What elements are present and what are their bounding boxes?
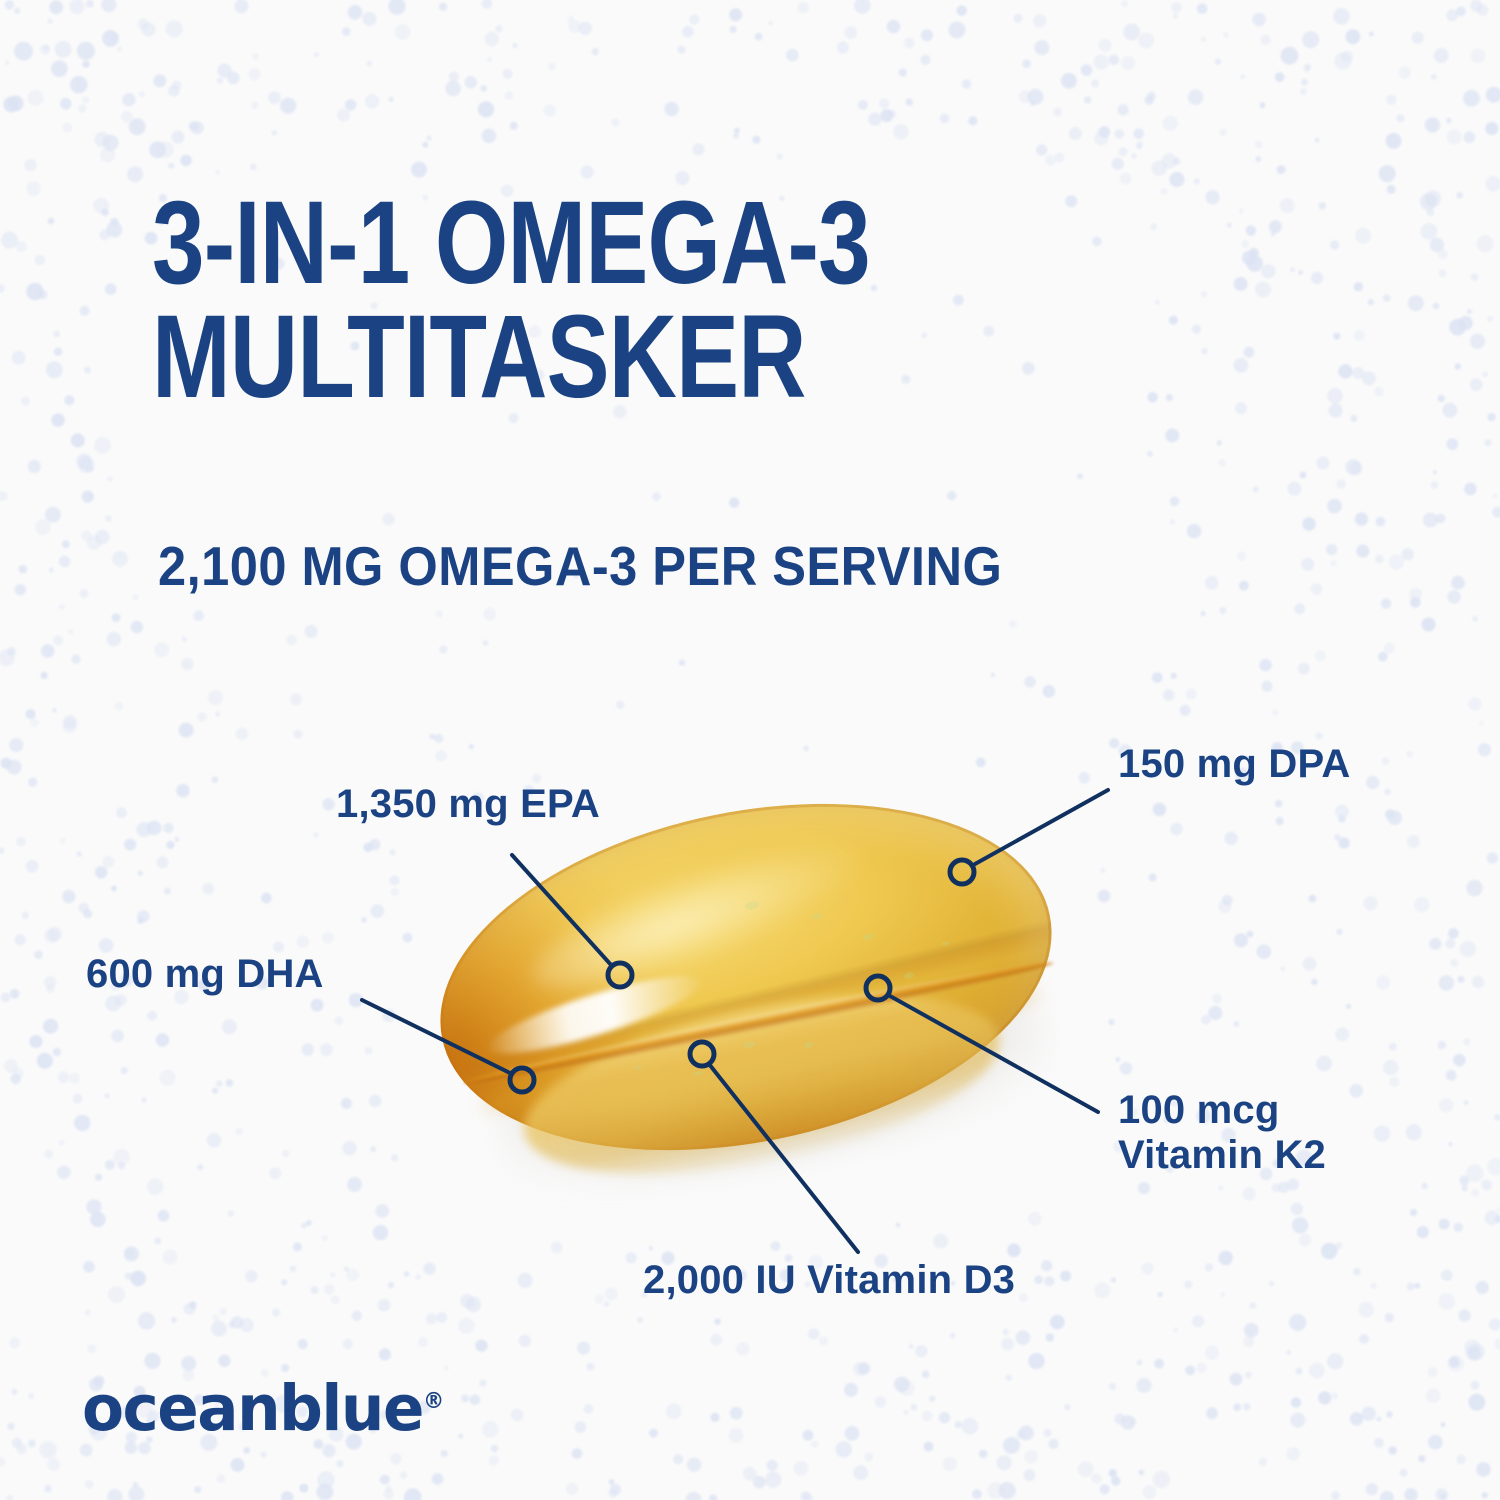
page-title: 3-IN-1 OMEGA-3 MULTITASKER bbox=[152, 186, 888, 415]
logo-wordmark: oceanblue bbox=[82, 1372, 423, 1445]
callout-label-dha: 600 mg DHA bbox=[86, 952, 324, 997]
registered-trademark-icon: ® bbox=[423, 1389, 444, 1414]
callout-label-epa: 1,350 mg EPA bbox=[336, 782, 600, 827]
softgel-capsule-image bbox=[398, 770, 1098, 1240]
subtitle-omega-per-serving: 2,100 MG OMEGA-3 PER SERVING bbox=[158, 534, 1002, 598]
oceanblue-logo: oceanblue® bbox=[82, 1372, 444, 1445]
callout-label-vitamin-d3: 2,000 IU Vitamin D3 bbox=[643, 1258, 1015, 1303]
callout-label-dpa: 150 mg DPA bbox=[1118, 742, 1350, 787]
infographic-canvas: 3-IN-1 OMEGA-3 MULTITASKER 2,100 MG OMEG… bbox=[0, 0, 1500, 1500]
callout-label-vitamin-k2: 100 mcg Vitamin K2 bbox=[1118, 1088, 1326, 1178]
